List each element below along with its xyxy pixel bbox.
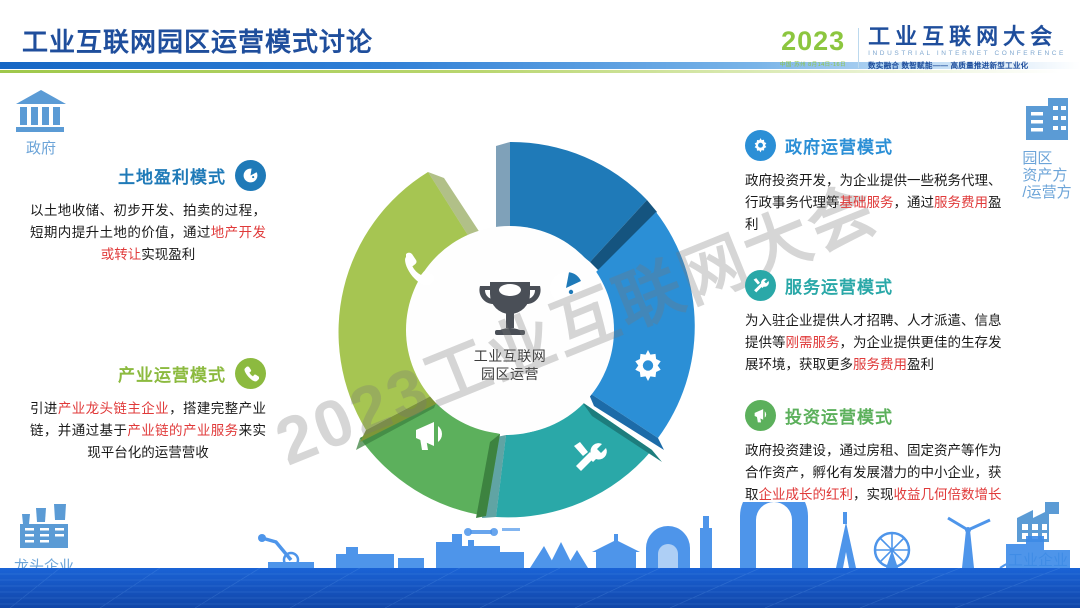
text-run-highlight: 基础服务 [840,195,894,210]
wheel-hub-text: 工业互联网 园区运营 [300,348,720,384]
text-run-highlight: 服务费用 [853,357,907,372]
conference-date: 中国·苏州 8月14日-16日 [780,59,846,67]
pacman-circle-icon [235,160,266,191]
role-park-asset: 园区 资产方 /运营方 [1022,96,1072,201]
block-service-operation: 服务运营模式 为入驻企业提供人才招聘、人才派遣、信息提供等刚需服务，为企业提供更… [745,270,1003,376]
operation-model-wheel: 工业互联网 园区运营 [300,120,720,540]
text-run: ，实现 [853,487,894,502]
hub-line-1: 工业互联网 [300,348,720,366]
hub-line-2: 园区运营 [300,366,720,384]
role-label-government: 政府 [26,141,56,158]
block-land-profit-title: 土地盈利模式 [118,163,226,188]
block-service-operation-title: 服务运营模式 [785,273,893,298]
block-government-operation-head: 政府运营模式 [745,130,1003,161]
conference-logo: 2023 中国·苏州 8月14日-16日 工业互联网大会 INDUSTRIAL … [777,24,1066,72]
slide-root: 工业互联网园区运营模式讨论 2023 中国·苏州 8月14日-16日 工业互联网… [0,0,1080,608]
role-label-park-asset: 园区 资产方 /运营方 [1022,151,1071,201]
conference-slogan: 数实融合 数智赋能—— 高质量推进新型工业化 [868,60,1056,70]
block-investment-operation-title: 投资运营模式 [785,403,893,428]
block-industry-operation-body: 引进产业龙头链主企业，搭建完整产业链，并通过基于产业链的产业服务来实现平台化的运… [30,398,266,464]
role-government: 政府 [14,88,68,158]
text-run: ，通过 [894,195,935,210]
text-run-highlight: 产业龙头链主企业 [58,401,169,416]
megaphone-circle-icon [745,400,776,431]
text-run-highlight: 产业链的产业服务 [127,423,238,438]
text-run-highlight: 企业成长的红利 [759,487,854,502]
page-title: 工业互联网园区运营模式讨论 [22,22,373,59]
text-run: 引进 [30,401,58,416]
gear-circle-icon [745,130,776,161]
conference-name-en: INDUSTRIAL INTERNET CONFERENCE [868,50,1066,57]
conference-logo-name-group: 工业互联网大会 INDUSTRIAL INTERNET CONFERENCE 数… [859,25,1066,71]
text-run-highlight: 收益几何倍数增长 [894,487,1002,502]
block-land-profit-body: 以土地收储、初步开发、拍卖的过程，短期内提升土地的价值，通过地产开发或转让实现盈… [30,200,266,266]
text-run-highlight: 刚需服务 [786,335,840,350]
block-land-profit: 土地盈利模式 以土地收储、初步开发、拍卖的过程，短期内提升土地的价值，通过地产开… [30,160,266,266]
block-government-operation-body: 政府投资开发，为企业提供一些税务代理、行政事务代理等基础服务，通过服务费用盈利 [745,170,1003,236]
city-skyline-decoration [0,502,1080,570]
block-government-operation-title: 政府运营模式 [785,133,893,158]
conference-year: 2023 [781,28,845,55]
text-run-highlight: 服务费用 [934,195,988,210]
phone-circle-icon [235,358,266,389]
government-bank-icon [14,88,68,139]
block-investment-operation-body: 政府投资建设，通过房租、固定资产等作为合作资产，孵化有发展潜力的中小企业，获取企… [745,440,1003,506]
block-government-operation: 政府运营模式 政府投资开发，为企业提供一些税务代理、行政事务代理等基础服务，通过… [745,130,1003,236]
block-industry-operation-head: 产业运营模式 [30,358,266,389]
text-run: 实现盈利 [141,247,195,262]
bottom-blue-band [0,568,1080,608]
block-service-operation-body: 为入驻企业提供人才招聘、人才派遣、信息提供等刚需服务，为企业提供更佳的生存发展环… [745,310,1003,376]
office-building-icon [1022,96,1072,149]
block-land-profit-head: 土地盈利模式 [30,160,266,191]
tools-circle-icon [745,270,776,301]
block-industry-operation: 产业运营模式 引进产业龙头链主企业，搭建完整产业链，并通过基于产业链的产业服务来… [30,358,266,464]
block-service-operation-head: 服务运营模式 [745,270,1003,301]
block-investment-operation-head: 投资运营模式 [745,400,1003,431]
pacman-icon [550,272,582,304]
block-industry-operation-title: 产业运营模式 [118,361,226,386]
block-investment-operation: 投资运营模式 政府投资建设，通过房租、固定资产等作为合作资产，孵化有发展潜力的中… [745,400,1003,506]
conference-name-cn: 工业互联网大会 [868,25,1066,48]
text-run: 盈利 [907,357,934,372]
conference-logo-year-group: 2023 中国·苏州 8月14日-16日 [777,28,858,68]
